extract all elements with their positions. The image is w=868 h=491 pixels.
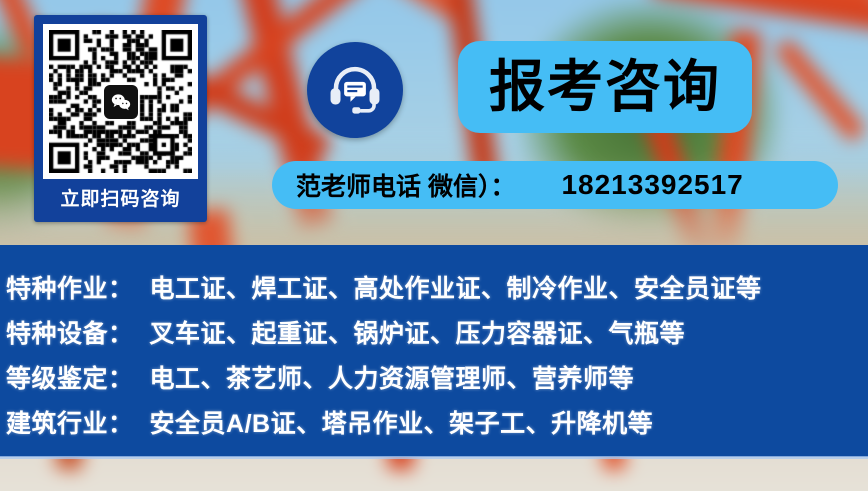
category-items: 电工证、焊工证、高处作业证、制冷作业、安全员证等 (150, 269, 762, 305)
page-title: 报考咨询 (489, 59, 721, 115)
wechat-icon (104, 85, 138, 119)
qr-code-card[interactable]: 立即扫码咨询 (34, 15, 207, 222)
list-item: 特种作业： 电工证、焊工证、高处作业证、制冷作业、安全员证等 (6, 269, 868, 314)
category-items: 电工、茶艺师、人力资源管理师、营养师等 (150, 359, 635, 395)
promo-banner: 立即扫码咨询 报考咨询 范老师电话 微信）： 18213392517 特种作业：… (0, 0, 868, 491)
contact-label: 范老师电话 微信）： (296, 167, 515, 203)
category-label: 特种作业： (6, 269, 134, 305)
qr-caption: 立即扫码咨询 (60, 179, 180, 221)
list-item: 建筑行业： 安全员A/B证、塔吊作业、架子工、升降机等 (6, 404, 868, 449)
qr-code-image[interactable] (43, 24, 198, 179)
category-label: 等级鉴定： (6, 359, 134, 395)
title-pill: 报考咨询 (458, 41, 752, 133)
list-item: 特种设备： 叉车证、起重证、锅炉证、压力容器证、气瓶等 (6, 314, 868, 359)
headset-support-badge[interactable] (307, 42, 403, 138)
headset-support-icon (326, 61, 384, 119)
list-item: 等级鉴定： 电工、茶艺师、人力资源管理师、营养师等 (6, 359, 868, 404)
category-label: 特种设备： (6, 314, 134, 350)
category-label: 建筑行业： (6, 404, 134, 440)
category-items: 叉车证、起重证、锅炉证、压力容器证、气瓶等 (150, 314, 686, 350)
category-items: 安全员A/B证、塔吊作业、架子工、升降机等 (150, 404, 654, 440)
certificate-list-panel: 特种作业： 电工证、焊工证、高处作业证、制冷作业、安全员证等 特种设备： 叉车证… (0, 245, 868, 457)
contact-pill[interactable]: 范老师电话 微信）： 18213392517 (272, 161, 838, 209)
panel-underline (0, 456, 868, 459)
contact-phone-number[interactable]: 18213392517 (561, 169, 743, 201)
